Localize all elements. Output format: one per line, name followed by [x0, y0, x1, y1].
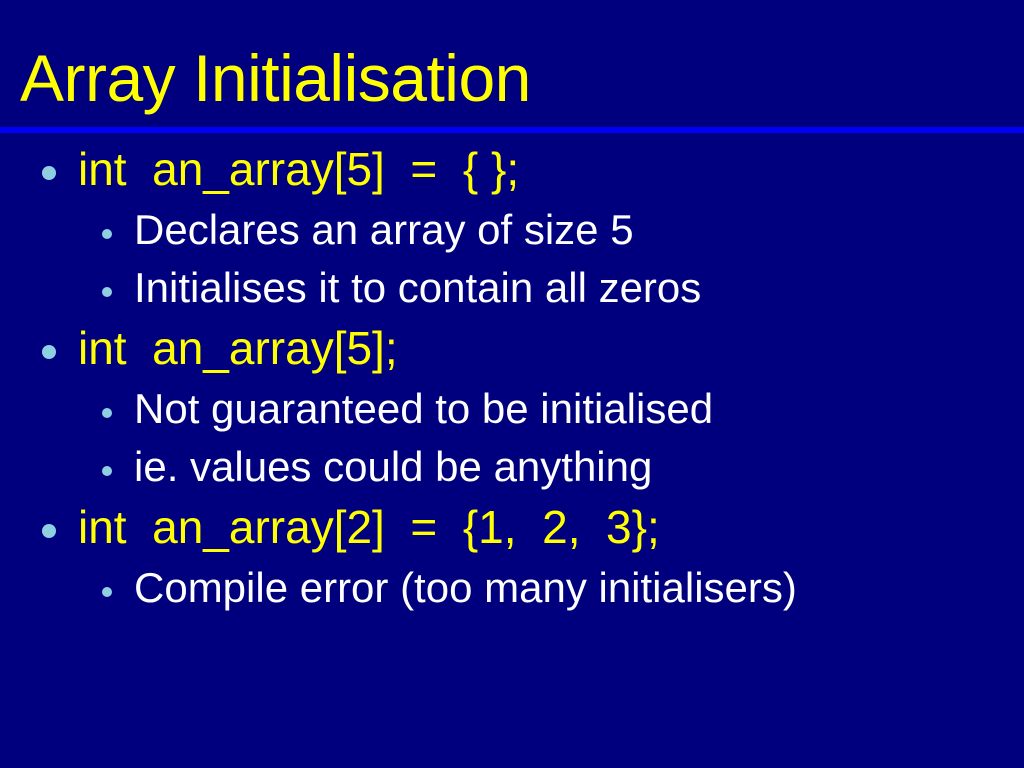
bullet-text: Compile error (too many initialisers) — [134, 561, 797, 615]
bullet-text: Initialises it to contain all zeros — [134, 261, 701, 315]
bullet-text: Not guaranteed to be initialised — [134, 382, 713, 436]
slide-body: int an_array[5] = { }; Declares an array… — [0, 140, 1024, 619]
bullet-item-level2: Initialises it to contain all zeros — [0, 261, 1024, 319]
bullet-marker-icon — [42, 345, 56, 359]
bullet-marker-icon — [102, 408, 112, 418]
bullet-item-level2: Not guaranteed to be initialised — [0, 382, 1024, 440]
bullet-marker-icon — [102, 229, 112, 239]
bullet-item-level2: ie. values could be anything — [0, 440, 1024, 498]
page-title: Array Initialisation — [20, 42, 531, 114]
bullet-text: int an_array[5] = { }; — [78, 140, 519, 198]
presentation-slide: Array Initialisation int an_array[5] = {… — [0, 0, 1024, 768]
bullet-text: int an_array[2] = {1, 2, 3}; — [78, 498, 660, 556]
bullet-marker-icon — [102, 587, 112, 597]
title-divider — [0, 127, 1024, 133]
bullet-marker-icon — [42, 166, 56, 180]
bullet-item-level1: int an_array[5]; — [0, 319, 1024, 382]
bullet-text: int an_array[5]; — [78, 319, 398, 377]
bullet-marker-icon — [102, 466, 112, 476]
bullet-text: ie. values could be anything — [134, 440, 652, 494]
bullet-item-level2: Compile error (too many initialisers) — [0, 561, 1024, 619]
bullet-item-level1: int an_array[5] = { }; — [0, 140, 1024, 203]
bullet-text: Declares an array of size 5 — [134, 203, 634, 257]
bullet-item-level1: int an_array[2] = {1, 2, 3}; — [0, 498, 1024, 561]
bullet-item-level2: Declares an array of size 5 — [0, 203, 1024, 261]
bullet-marker-icon — [42, 524, 56, 538]
bullet-marker-icon — [102, 287, 112, 297]
